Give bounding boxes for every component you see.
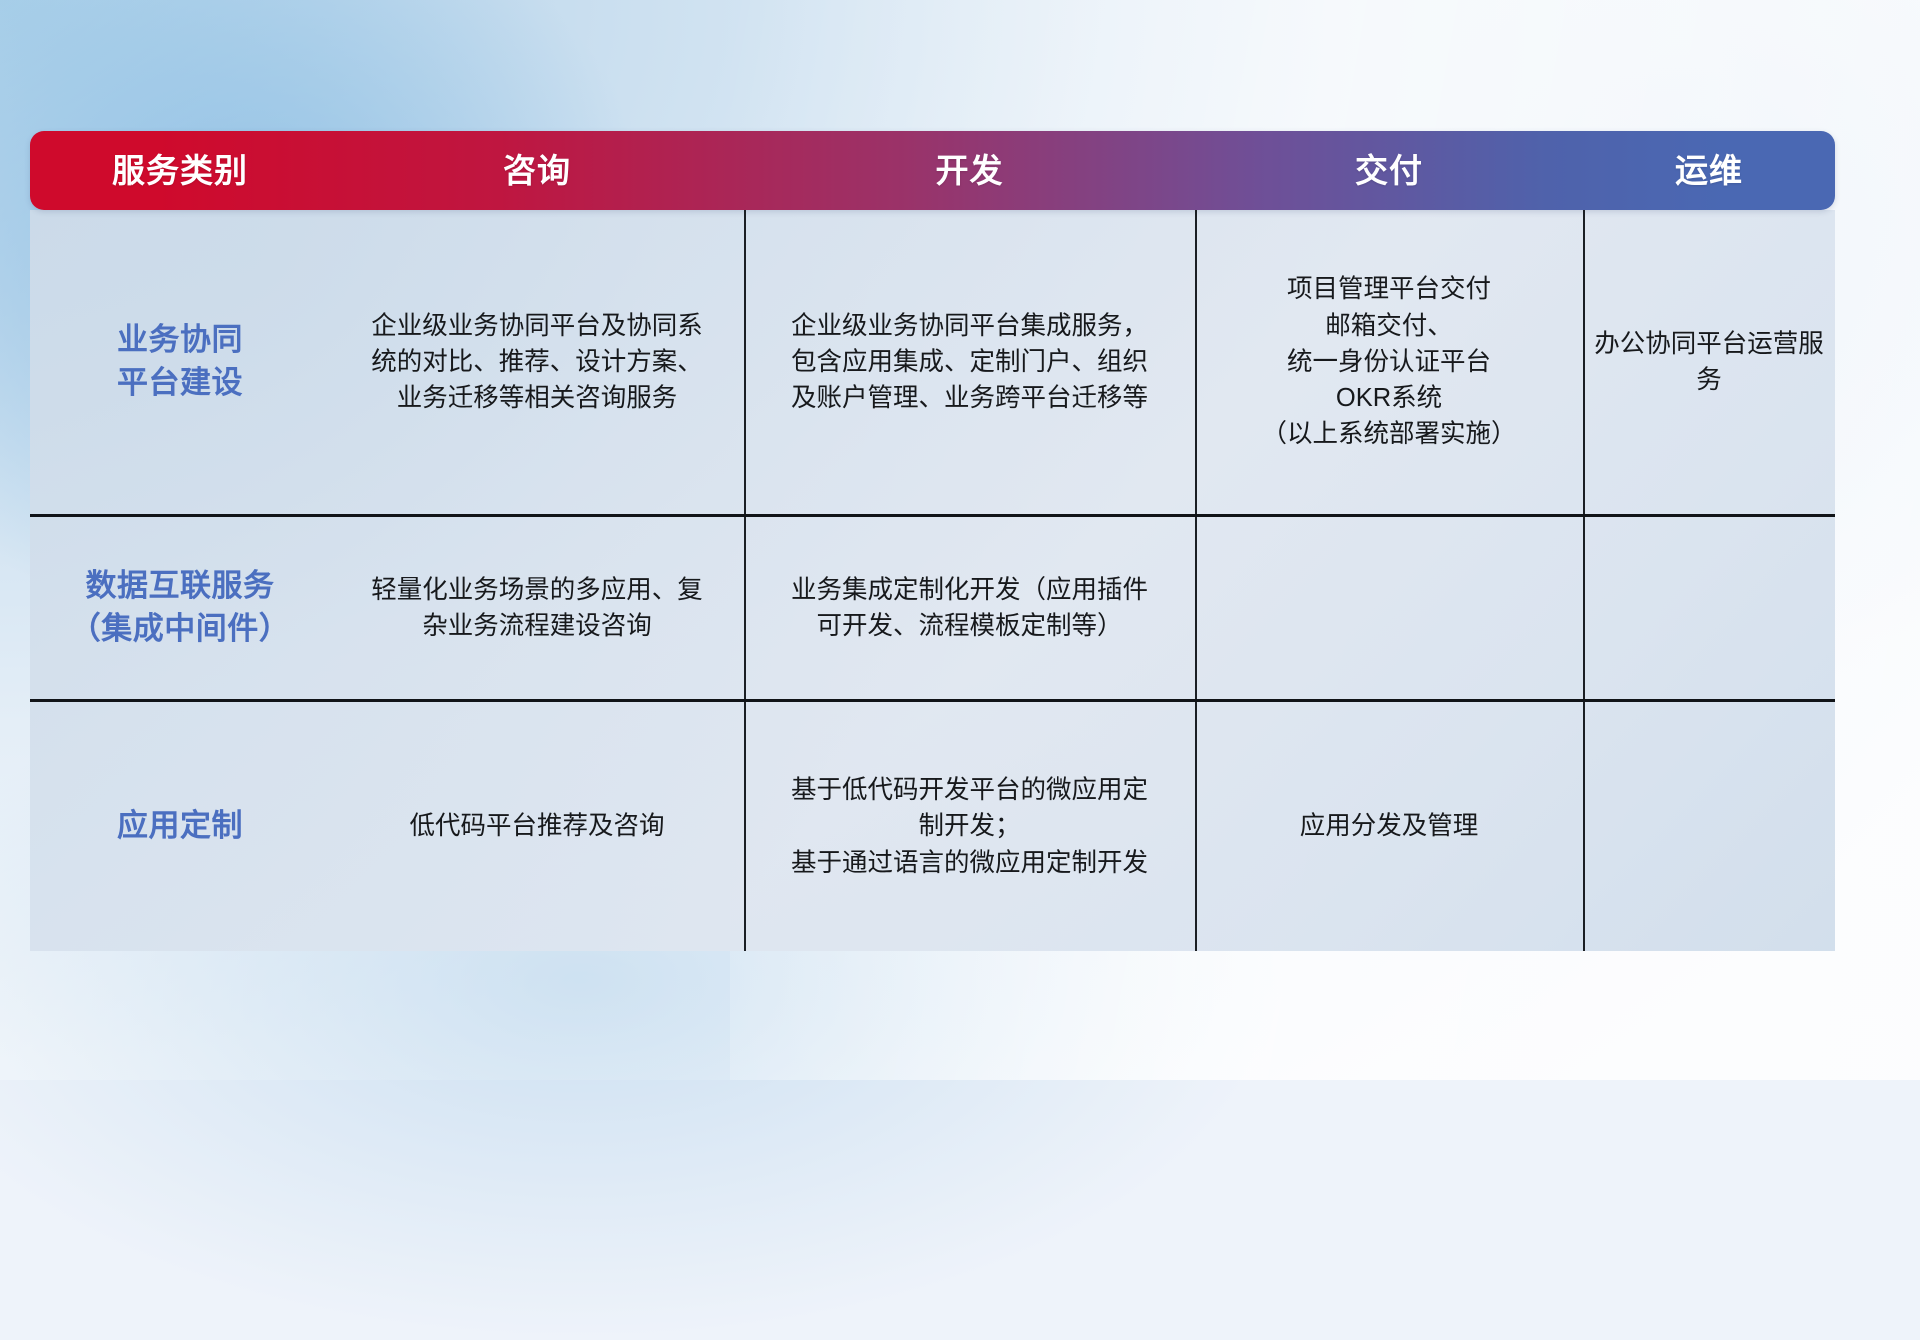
cell-text: 低代码平台推荐及咨询 <box>409 808 664 844</box>
service-matrix-table: 服务类别 咨询 开发 交付 运维 业务协同 平台建设 企业级业务协同平台及协同系… <box>30 131 1835 951</box>
cell-delivery: 应用分发及管理 <box>1195 702 1583 951</box>
table-rows: 业务协同 平台建设 企业级业务协同平台及协同系 统的对比、推荐、设计方案、 业务… <box>30 210 1835 951</box>
cell-text: 基于低代码开发平台的微应用定 制开发； 基于通过语言的微应用定制开发 <box>791 772 1148 881</box>
row-category-label: 应用定制 <box>117 805 243 848</box>
cell-delivery: 项目管理平台交付 邮箱交付、 统一身份认证平台 OKR系统 （以上系统部署实施） <box>1195 210 1583 514</box>
cell-text: 企业级业务协同平台集成服务， 包含应用集成、定制门户、组织 及账户管理、业务跨平… <box>791 308 1148 417</box>
cell-development: 基于低代码开发平台的微应用定 制开发； 基于通过语言的微应用定制开发 <box>744 702 1195 951</box>
cell-text: 轻量化业务场景的多应用、复 杂业务流程建设咨询 <box>371 572 703 644</box>
column-header-operations: 运维 <box>1583 154 1835 187</box>
row-category-cell: 数据互联服务 （集成中间件） <box>30 517 330 699</box>
cell-consulting: 低代码平台推荐及咨询 <box>330 702 744 951</box>
column-header-development: 开发 <box>744 154 1195 187</box>
table-row: 业务协同 平台建设 企业级业务协同平台及协同系 统的对比、推荐、设计方案、 业务… <box>30 210 1835 514</box>
cell-operations <box>1583 702 1835 951</box>
table-row: 数据互联服务 （集成中间件） 轻量化业务场景的多应用、复 杂业务流程建设咨询 业… <box>30 517 1835 699</box>
row-category-cell: 业务协同 平台建设 <box>30 210 330 514</box>
column-header-consulting: 咨询 <box>330 154 744 187</box>
cell-text: 项目管理平台交付 邮箱交付、 统一身份认证平台 OKR系统 （以上系统部署实施） <box>1261 271 1516 452</box>
row-category-label: 业务协同 平台建设 <box>117 319 243 405</box>
cell-operations <box>1583 517 1835 699</box>
cell-development: 企业级业务协同平台集成服务， 包含应用集成、定制门户、组织 及账户管理、业务跨平… <box>744 210 1195 514</box>
table-row: 应用定制 低代码平台推荐及咨询 基于低代码开发平台的微应用定 制开发； 基于通过… <box>30 702 1835 951</box>
cell-text: 应用分发及管理 <box>1300 808 1479 844</box>
column-header-delivery: 交付 <box>1195 154 1583 187</box>
cell-text: 办公协同平台运营服务 <box>1593 326 1825 398</box>
row-category-label: 数据互联服务 （集成中间件） <box>70 565 291 651</box>
row-category-cell: 应用定制 <box>30 702 330 951</box>
table-header-row: 服务类别 咨询 开发 交付 运维 <box>30 131 1835 210</box>
cell-delivery <box>1195 517 1583 699</box>
cell-operations: 办公协同平台运营服务 <box>1583 210 1835 514</box>
cell-consulting: 轻量化业务场景的多应用、复 杂业务流程建设咨询 <box>330 517 744 699</box>
cell-text: 企业级业务协同平台及协同系 统的对比、推荐、设计方案、 业务迁移等相关咨询服务 <box>371 308 703 417</box>
column-header-service-category: 服务类别 <box>30 154 330 187</box>
cell-text: 业务集成定制化开发（应用插件 可开发、流程模板定制等） <box>791 572 1148 644</box>
cell-development: 业务集成定制化开发（应用插件 可开发、流程模板定制等） <box>744 517 1195 699</box>
cell-consulting: 企业级业务协同平台及协同系 统的对比、推荐、设计方案、 业务迁移等相关咨询服务 <box>330 210 744 514</box>
